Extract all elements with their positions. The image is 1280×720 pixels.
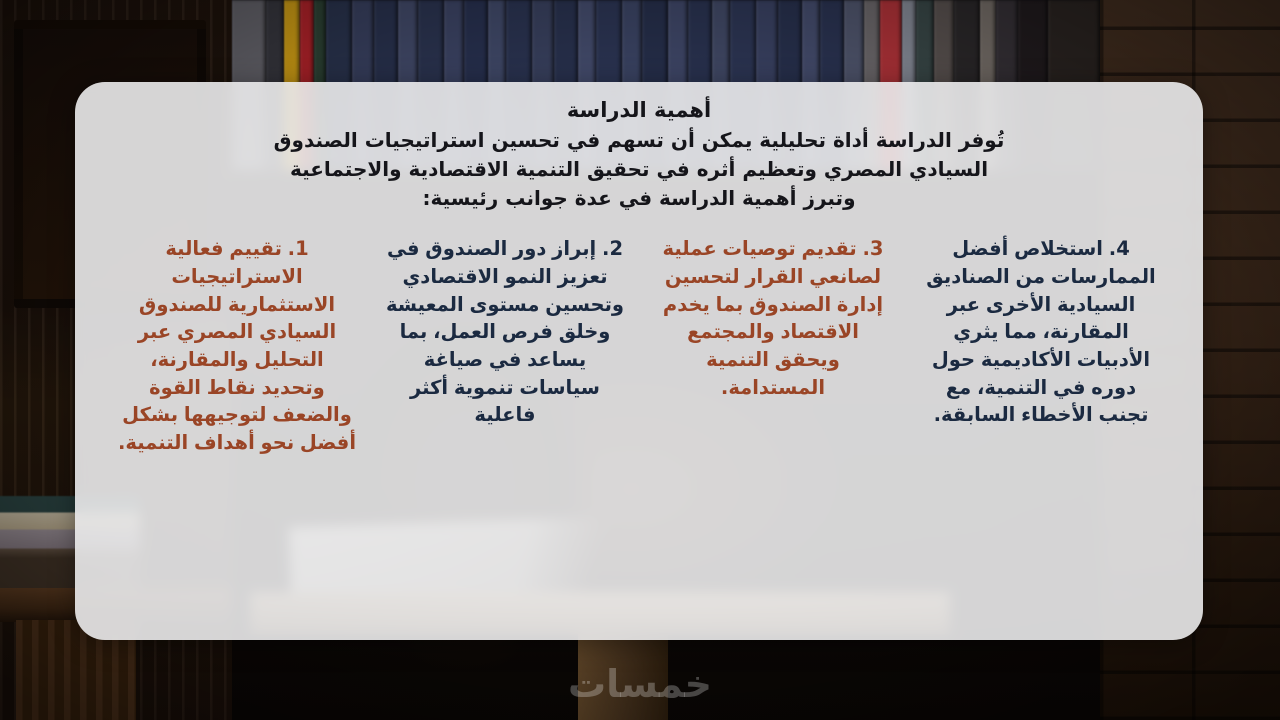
point-item-4: 4. استخلاص أفضل الممارسات من الصناديق ال… (907, 235, 1175, 429)
points-row: 4. استخلاص أفضل الممارسات من الصناديق ال… (103, 235, 1175, 630)
card-header: أهمية الدراسة تُوفر الدراسة أداة تحليلية… (103, 96, 1175, 213)
header-closing-line: وتبرز أهمية الدراسة في عدة جوانب رئيسية: (103, 184, 1175, 213)
point-item-3: 3. تقديم توصيات عملية لصانعي القرار لتحس… (639, 235, 907, 401)
slide-canvas: أهمية الدراسة تُوفر الدراسة أداة تحليلية… (0, 0, 1280, 720)
content-card: أهمية الدراسة تُوفر الدراسة أداة تحليلية… (75, 82, 1203, 640)
point-item-2: 2. إبراز دور الصندوق في تعزيز النمو الاق… (371, 235, 639, 429)
header-paragraph: تُوفر الدراسة أداة تحليلية يمكن أن تسهم … (239, 126, 1039, 184)
page-title: أهمية الدراسة (103, 96, 1175, 124)
point-item-1: 1. تقييم فعالية الاستراتيجيات الاستثماري… (103, 235, 371, 457)
